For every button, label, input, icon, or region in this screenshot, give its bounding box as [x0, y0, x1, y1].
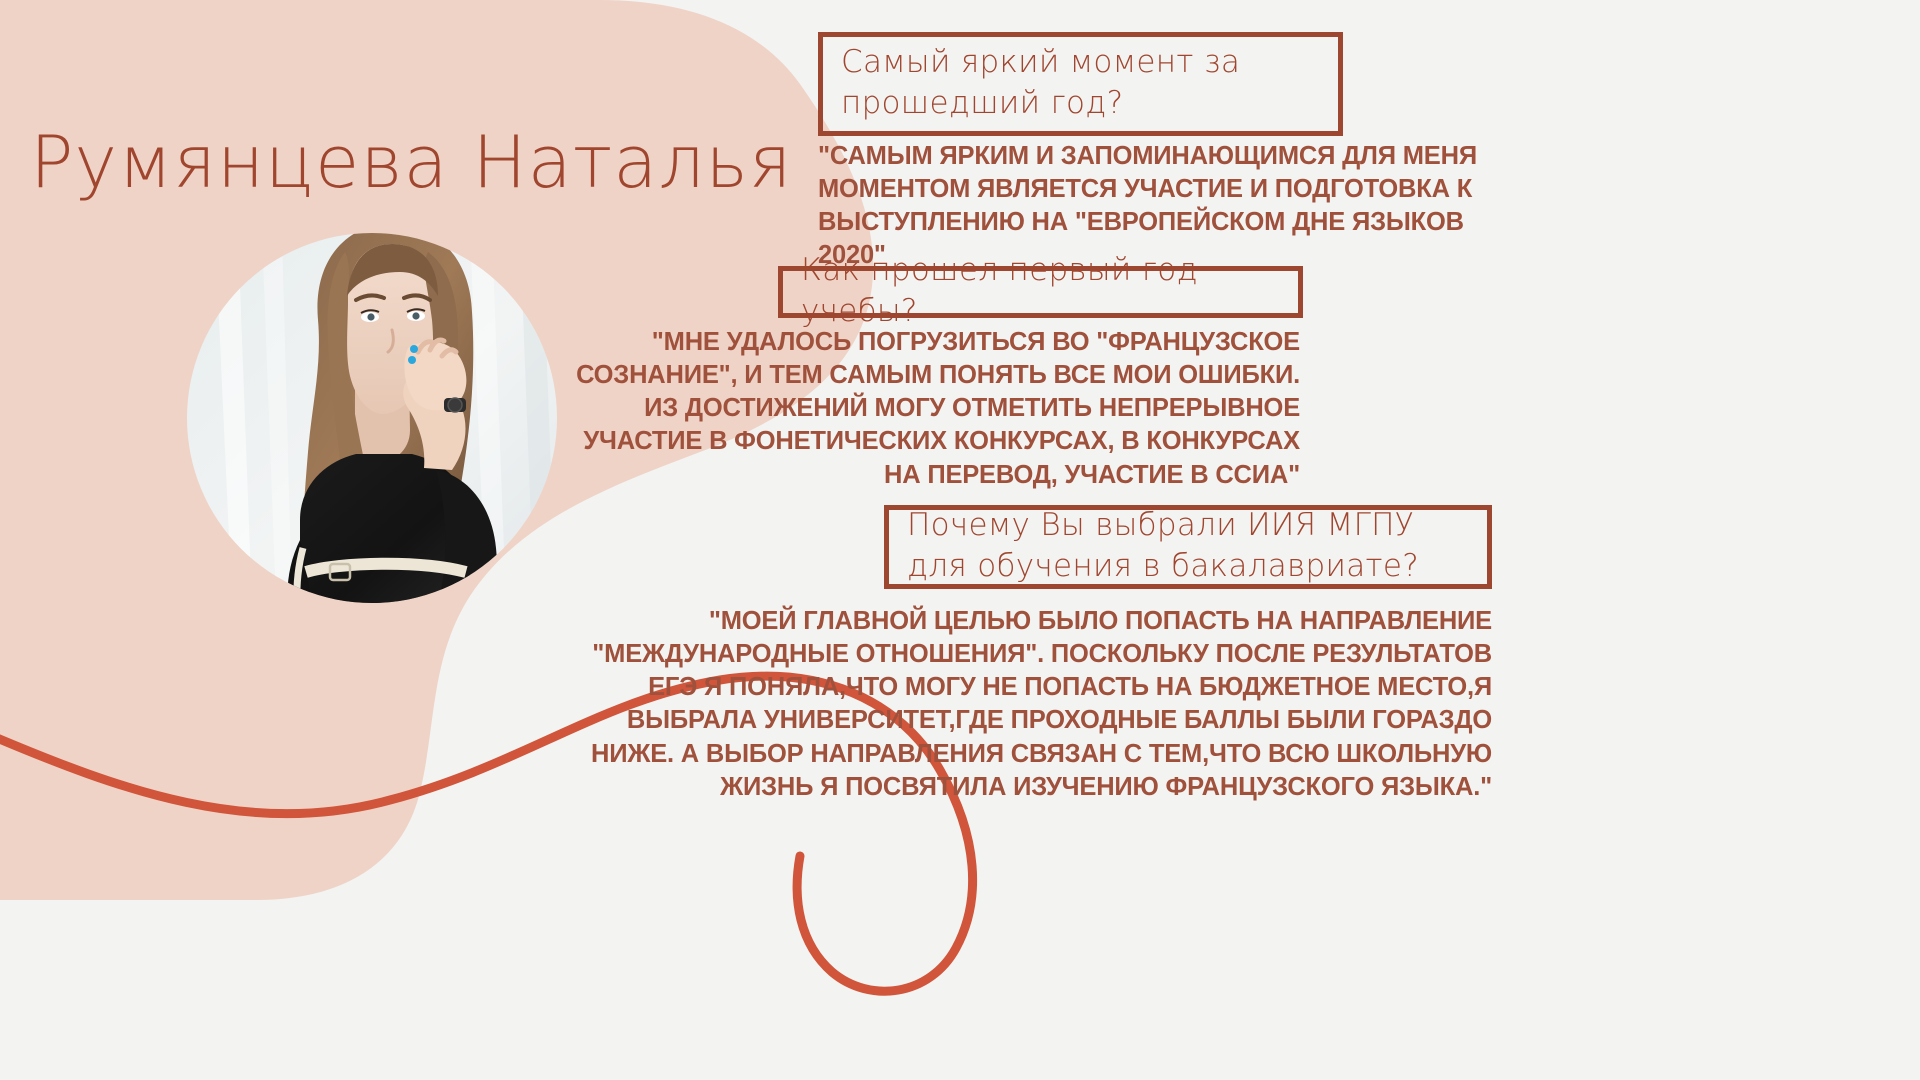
poster-canvas: Румянцева Наталья Самый яркий момент за …	[0, 0, 1920, 1080]
answer-text-2: "Мне удалось погрузиться во "французское…	[560, 326, 1300, 492]
question-box-1: Самый яркий момент за прошедший год?	[818, 32, 1343, 136]
answer-text-3: "Моей главной целью было попасть на напр…	[560, 605, 1492, 804]
question-box-2: Как прошел первый год учебы?	[778, 266, 1303, 318]
portrait-photo	[187, 224, 557, 604]
page-title: Румянцева Наталья	[30, 120, 910, 204]
question-box-3: Почему Вы выбрали ИИЯ МГПУ для обучения …	[884, 505, 1492, 589]
question-text-3: Почему Вы выбрали ИИЯ МГПУ для обучения …	[889, 499, 1487, 595]
question-text-1: Самый яркий момент за прошедший год?	[823, 36, 1338, 132]
